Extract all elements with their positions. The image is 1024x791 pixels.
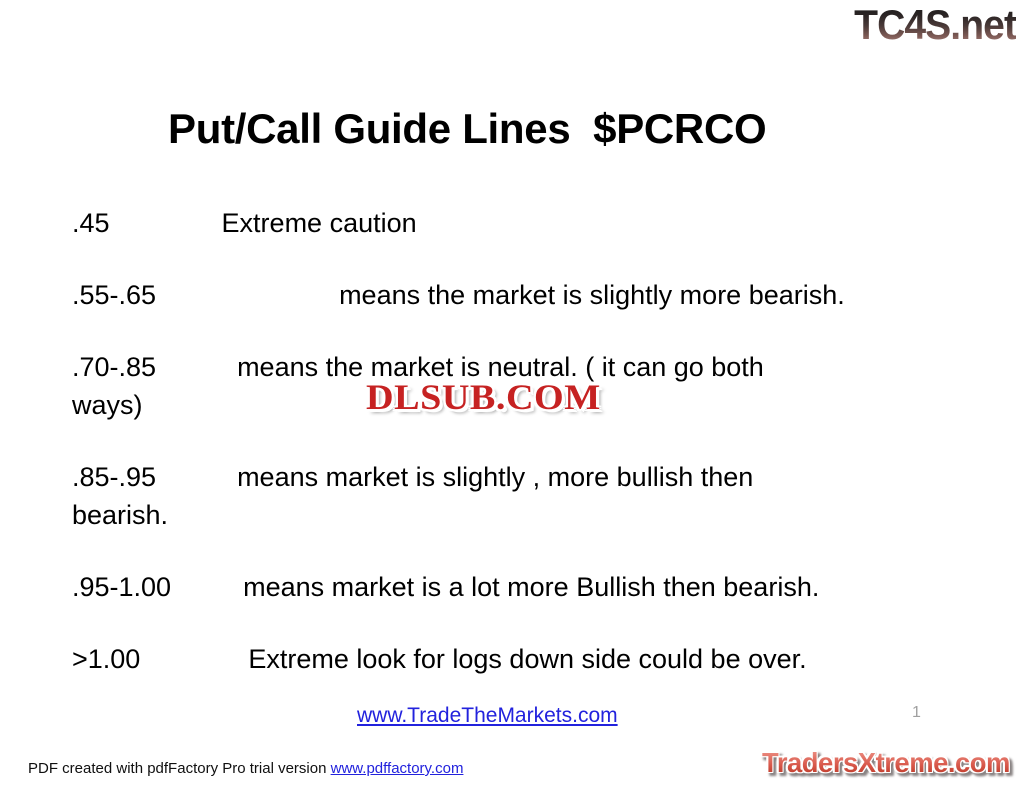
row-value: .85-.95 — [72, 462, 156, 492]
list-item: .95-1.00means market is a lot more Bulli… — [72, 568, 952, 606]
pdf-notice-text: PDF created with pdfFactory Pro trial ve… — [28, 760, 331, 777]
page-number: 1 — [912, 704, 921, 722]
list-item: .55-.65means the market is slightly more… — [72, 276, 952, 314]
tc4s-brand-logo: TC4S.net — [854, 2, 1016, 48]
list-item: .85-.95means market is slightly , more b… — [72, 458, 952, 534]
row-value: .45 — [72, 208, 110, 238]
list-item: .45Extreme caution — [72, 204, 952, 242]
row-description: Extreme caution — [222, 208, 417, 238]
list-item: .70-.85means the market is neutral. ( it… — [72, 348, 952, 424]
row-description: means the market is neutral. ( it can go… — [237, 352, 764, 382]
row-value: >1.00 — [72, 644, 140, 674]
row-value: .70-.85 — [72, 352, 156, 382]
row-description: means market is a lot more Bullish then … — [243, 572, 819, 602]
page-title: Put/Call Guide Lines $PCRCO — [168, 104, 766, 154]
tradethemarkets-link[interactable]: www.TradeTheMarkets.com — [357, 704, 618, 728]
guide-lines-list: .45Extreme caution .55-.65means the mark… — [72, 204, 952, 712]
row-description-wrap: ways) — [72, 386, 952, 424]
pdffactory-link[interactable]: www.pdffactory.com — [331, 760, 464, 777]
row-value: .95-1.00 — [72, 572, 171, 602]
row-value: .55-.65 — [72, 280, 156, 310]
list-item: >1.00Extreme look for logs down side cou… — [72, 640, 952, 678]
row-description: Extreme look for logs down side could be… — [248, 644, 806, 674]
tradersxtreme-logo: TradersXtreme.com — [762, 746, 1010, 780]
pdf-factory-notice: PDF created with pdfFactory Pro trial ve… — [28, 760, 463, 777]
slide-canvas: TC4S.net Put/Call Guide Lines $PCRCO .45… — [0, 0, 1024, 791]
row-description: means market is slightly , more bullish … — [237, 462, 753, 492]
row-description-wrap: bearish. — [72, 496, 952, 534]
row-description: means the market is slightly more bearis… — [339, 280, 845, 310]
